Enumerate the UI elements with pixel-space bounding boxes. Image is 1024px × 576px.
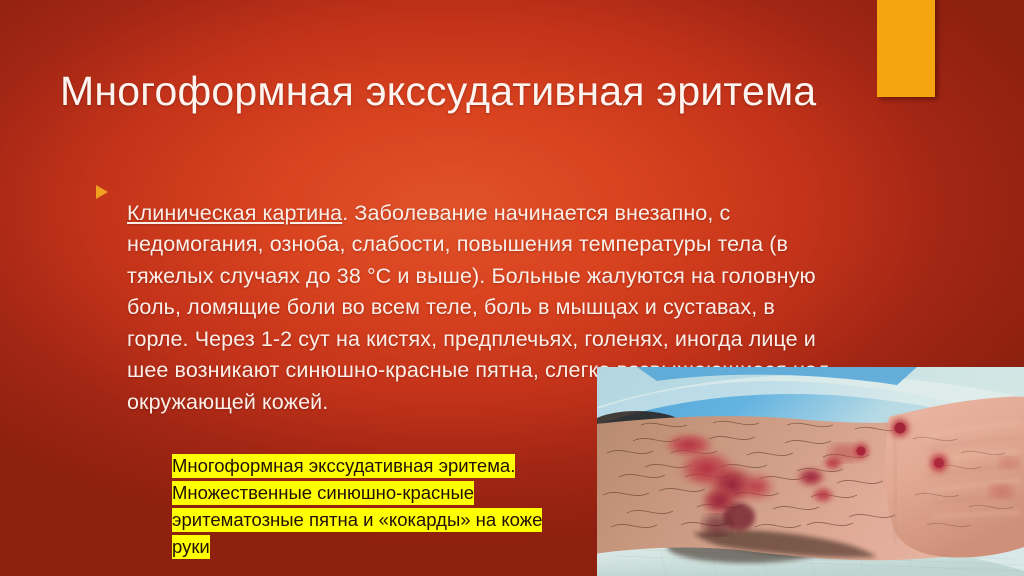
presentation-slide: Многоформная экссудативная эритема Клини…	[0, 0, 1024, 576]
slide-title: Многоформная экссудативная эритема	[60, 65, 850, 117]
clinical-photo-graphic	[597, 367, 1024, 576]
clinical-photo	[597, 367, 1024, 576]
body-lead-term: Клиническая картина	[127, 201, 342, 225]
image-caption: Многоформная экссудативная эритема. Множ…	[172, 452, 592, 560]
caption-line: эритематозные пятна и «кокарды» на коже	[172, 506, 592, 533]
accent-bar-decoration	[877, 0, 935, 97]
triangle-bullet-icon	[96, 185, 108, 199]
caption-line: Многоформная экссудативная эритема.	[172, 452, 592, 479]
caption-line: Множественные синюшно-красные	[172, 479, 592, 506]
caption-line-text: Множественные синюшно-красные	[172, 481, 474, 505]
caption-line: руки	[172, 533, 592, 560]
caption-line-text: эритематозные пятна и «кокарды» на коже	[172, 508, 542, 532]
caption-line-text: Многоформная экссудативная эритема.	[172, 454, 515, 478]
caption-line-text: руки	[172, 535, 210, 559]
